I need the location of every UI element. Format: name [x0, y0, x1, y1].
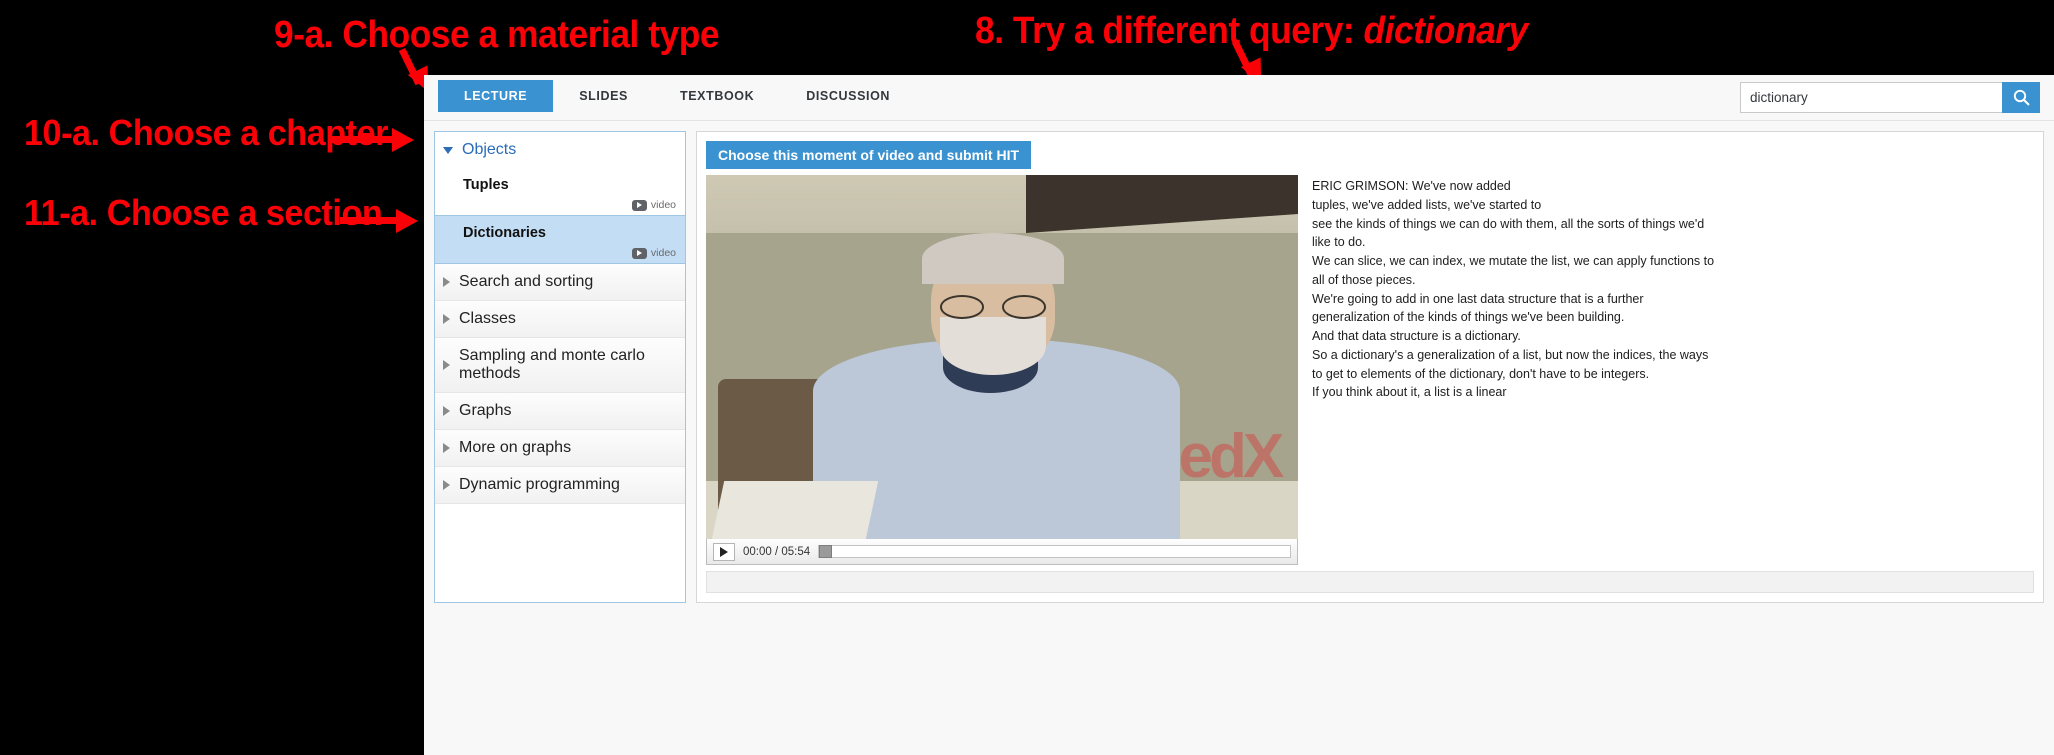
sidebar-section-label: Dictionaries [463, 225, 546, 241]
transcript-line: to get to elements of the dictionary, do… [1312, 365, 2034, 384]
sidebar-section-tuples[interactable]: Tuples video [435, 168, 685, 215]
video-lecturer-glasses-right [1002, 295, 1046, 319]
caret-right-icon [443, 406, 450, 416]
tree-node-objects: Objects Tuples video Dictionaries video [435, 132, 685, 264]
sidebar-chapter-label: Objects [462, 141, 516, 159]
video-laptop [712, 481, 878, 539]
annotation-choose-material-type: 9-a. Choose a material type [274, 14, 719, 57]
sidebar-chapter-label: More on graphs [459, 439, 571, 457]
video-badge: video [632, 247, 676, 259]
sidebar-section-dictionaries[interactable]: Dictionaries video [435, 215, 685, 264]
transcript-line: We're going to add in one last data stru… [1312, 290, 2034, 309]
search-icon [2013, 89, 2030, 106]
scrubber-handle[interactable] [819, 545, 832, 558]
search-bar [1740, 82, 2040, 113]
lecture-content-panel: Choose this moment of video and submit H… [696, 131, 2044, 603]
annotation-query-term: dictionary [1364, 10, 1528, 52]
video-lecturer-hair [922, 233, 1064, 284]
video-lecturer-beard [940, 317, 1047, 375]
sidebar-section-label: Tuples [463, 177, 509, 193]
media-area: edX 00:00 / 05:54 ERIC GRIMSON: We've no… [706, 175, 2034, 565]
annotation-choose-section: 11-a. Choose a section [24, 192, 382, 234]
transcript-line: So a dictionary's a generalization of a … [1312, 346, 2034, 365]
search-input[interactable] [1740, 82, 2002, 113]
tab-discussion[interactable]: DISCUSSION [780, 80, 916, 112]
annotation-query-prefix: 8. Try a different query: [975, 10, 1364, 52]
video-scrubber[interactable] [818, 545, 1291, 558]
caret-down-icon [443, 147, 453, 154]
sidebar-chapter-graphs[interactable]: Graphs [435, 393, 685, 430]
video-controls: 00:00 / 05:54 [706, 539, 1298, 565]
transcript-line: ERIC GRIMSON: We've now added [1312, 177, 2034, 196]
annotation-choose-chapter: 10-a. Choose a chapter [24, 112, 388, 154]
play-button[interactable] [713, 543, 735, 561]
caret-right-icon [443, 277, 450, 287]
tab-textbook[interactable]: TEXTBOOK [654, 80, 780, 112]
main-body: Objects Tuples video Dictionaries video [424, 121, 2054, 755]
transcript-line: And that data structure is a dictionary. [1312, 327, 2034, 346]
caret-right-icon [443, 360, 450, 370]
sidebar-chapter-more-on-graphs[interactable]: More on graphs [435, 430, 685, 467]
sidebar-chapter-label: Graphs [459, 402, 511, 420]
chapter-tree: Objects Tuples video Dictionaries video [434, 131, 686, 603]
content-footer-strip [706, 571, 2034, 593]
sidebar-chapter-classes[interactable]: Classes [435, 301, 685, 338]
transcript-line: see the kinds of things we can do with t… [1312, 215, 2034, 234]
edx-watermark: edX [1179, 421, 1281, 492]
submit-hit-banner[interactable]: Choose this moment of video and submit H… [706, 141, 1031, 169]
video-icon [632, 248, 647, 259]
sidebar-chapter-label: Classes [459, 310, 516, 328]
caret-right-icon [443, 443, 450, 453]
transcript-line: all of those pieces. [1312, 271, 2034, 290]
sidebar-chapter-label: Sampling and monte carlo methods [459, 347, 675, 383]
transcript-panel[interactable]: ERIC GRIMSON: We've now added tuples, we… [1312, 175, 2034, 565]
caret-right-icon [443, 480, 450, 490]
material-type-tabbar: LECTURE SLIDES TEXTBOOK DISCUSSION [424, 75, 2054, 121]
transcript-line: generalization of the kinds of things we… [1312, 308, 2034, 327]
caret-right-icon [443, 314, 450, 324]
sidebar-chapter-search-and-sorting[interactable]: Search and sorting [435, 264, 685, 301]
video-lecturer-glasses-left [940, 295, 984, 319]
video-badge: video [632, 199, 676, 211]
video-badge-label: video [651, 199, 676, 211]
video-time-display: 00:00 / 05:54 [743, 546, 810, 558]
search-button[interactable] [2002, 82, 2040, 113]
transcript-line: If you think about it, a list is a linea… [1312, 383, 2034, 402]
video-board [1026, 175, 1298, 233]
annotation-try-different-query: 8. Try a different query: dictionary [975, 10, 1528, 53]
transcript-line: We can slice, we can index, we mutate th… [1312, 252, 2034, 271]
tab-lecture[interactable]: LECTURE [438, 80, 553, 112]
video-badge-label: video [651, 247, 676, 259]
course-browser-window: LECTURE SLIDES TEXTBOOK DISCUSSION [424, 75, 2054, 755]
sidebar-chapter-dynamic-programming[interactable]: Dynamic programming [435, 467, 685, 504]
sidebar-chapter-sampling-and-monte-carlo-methods[interactable]: Sampling and monte carlo methods [435, 338, 685, 393]
video-frame[interactable]: edX [706, 175, 1298, 539]
sidebar-chapter-objects[interactable]: Objects [435, 132, 685, 168]
play-icon [720, 547, 728, 557]
video-player: edX 00:00 / 05:54 [706, 175, 1298, 565]
sidebar-chapter-label: Search and sorting [459, 273, 593, 291]
sidebar-chapter-label: Dynamic programming [459, 476, 620, 494]
transcript-line: like to do. [1312, 233, 2034, 252]
transcript-line: tuples, we've added lists, we've started… [1312, 196, 2034, 215]
video-icon [632, 200, 647, 211]
tab-slides[interactable]: SLIDES [553, 80, 654, 112]
